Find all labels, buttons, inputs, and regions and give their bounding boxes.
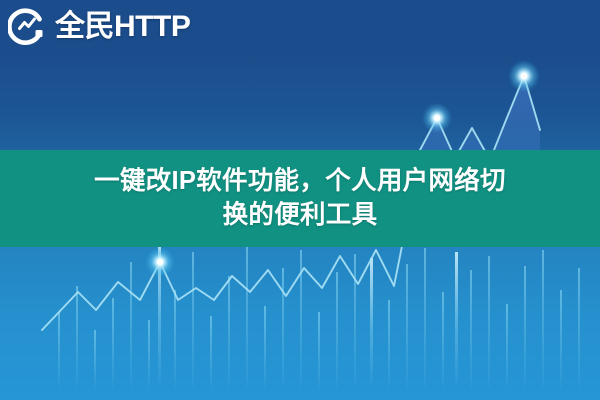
promo-banner: 全民HTTP 一键改IP软件功能，个人用户网络切 换的便利工具	[0, 0, 600, 400]
page-title-line-1: 一键改IP软件功能，个人用户网络切	[94, 167, 506, 195]
brand-logo[interactable]: 全民HTTP	[8, 5, 190, 49]
brand-logo-text: 全民HTTP	[55, 12, 190, 42]
chart-bars-group	[58, 240, 580, 388]
headline-band: 一键改IP软件功能，个人用户网络切 换的便利工具	[0, 150, 600, 247]
page-title: 一键改IP软件功能，个人用户网络切 换的便利工具	[22, 165, 578, 232]
quanmin-http-q-logo-icon	[8, 7, 48, 47]
page-title-line-2: 换的便利工具	[223, 201, 378, 229]
